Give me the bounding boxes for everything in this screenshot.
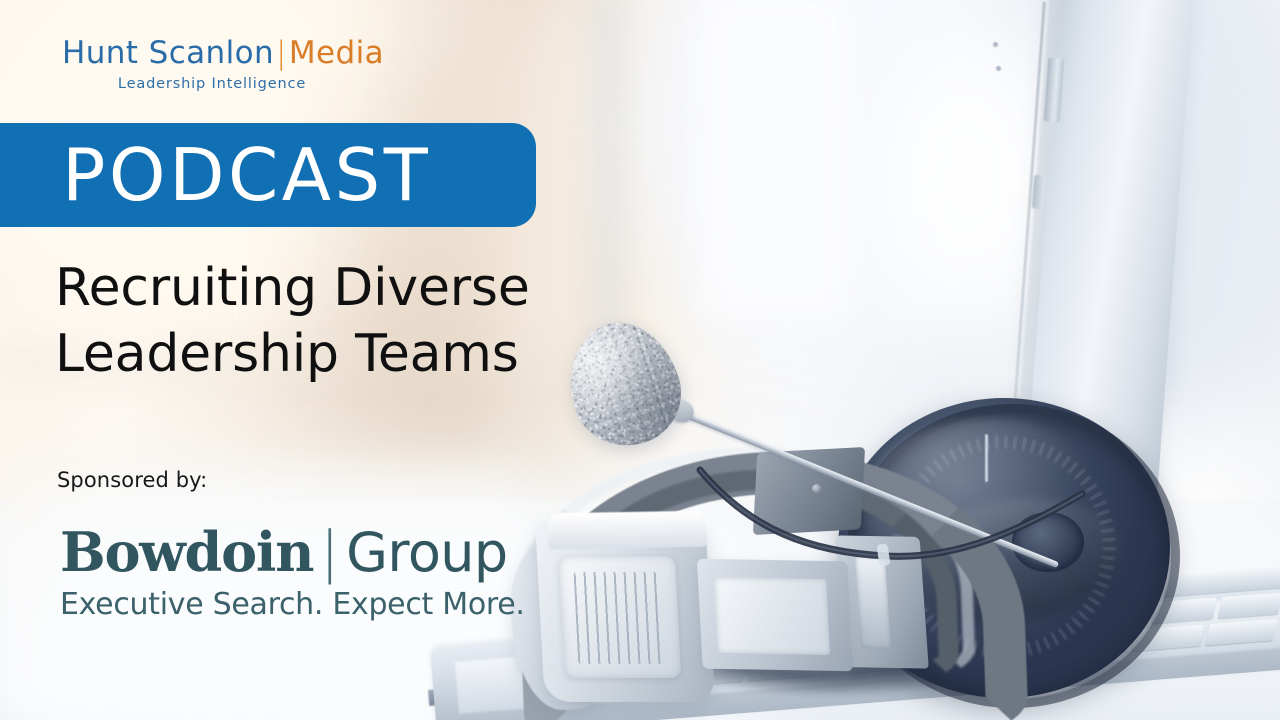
sponsor-name-secondary: Group bbox=[346, 521, 507, 584]
sponsor-divider: | bbox=[313, 520, 346, 585]
brand-name-primary: Hunt Scanlon bbox=[62, 35, 274, 71]
sponsored-by-label: Sponsored by: bbox=[57, 468, 207, 492]
episode-title-line-2: Leadership Teams bbox=[55, 322, 575, 388]
brand-wordmark: Hunt Scanlon|Media bbox=[62, 38, 392, 69]
podcast-banner-label: PODCAST bbox=[62, 139, 431, 211]
hunt-scanlon-media-logo: Hunt Scanlon|Media Leadership Intelligen… bbox=[62, 38, 392, 92]
brand-name-secondary: Media bbox=[289, 35, 384, 71]
episode-title: Recruiting Diverse Leadership Teams bbox=[55, 256, 575, 387]
brand-tagline: Leadership Intelligence bbox=[62, 76, 362, 92]
podcast-promo-graphic: Hunt Scanlon|Media Leadership Intelligen… bbox=[0, 0, 1280, 720]
brand-divider: | bbox=[274, 35, 289, 71]
episode-title-line-1: Recruiting Diverse bbox=[55, 256, 575, 322]
sponsor-name-primary: Bowdoin bbox=[60, 520, 313, 584]
sponsor-wordmark: Bowdoin|Group bbox=[60, 524, 480, 581]
bowdoin-group-logo: Bowdoin|Group Executive Search. Expect M… bbox=[60, 524, 480, 622]
podcast-banner: PODCAST bbox=[0, 123, 536, 227]
sponsor-tagline: Executive Search. Expect More. bbox=[60, 587, 480, 622]
